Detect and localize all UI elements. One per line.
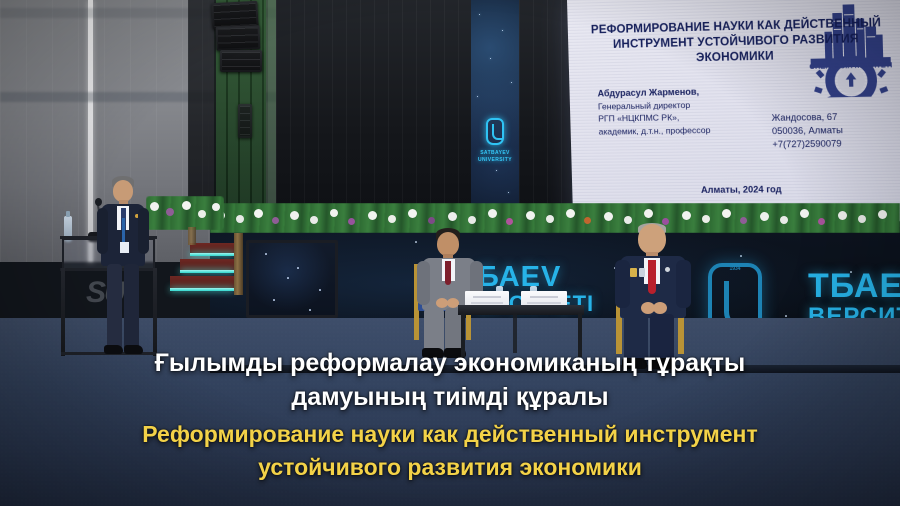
slide-place-year: Алматы, 2024 год	[572, 183, 900, 196]
arm-left	[417, 261, 430, 305]
lapel-pin	[665, 267, 670, 272]
satbayev-university-logo-icon	[486, 118, 504, 145]
led-pillar-display: SATBAYEV UNIVERSITY	[471, 0, 519, 216]
slide-body: ӨНЕРКӘСІП КОМИТЕТІ РЕФОРМИРОВАНИЕ НАУКИ …	[567, 0, 900, 223]
slide-author-block: Абдурасул Жарменов, Генеральный директор…	[597, 84, 777, 138]
subtitle-russian-line1: Реформирование науки как действенный инс…	[0, 418, 900, 451]
stage-flower-bed	[210, 203, 900, 233]
step-railing	[234, 233, 243, 295]
head	[638, 224, 666, 254]
leg-right	[124, 264, 139, 348]
hand-right	[653, 302, 667, 314]
arm-left	[97, 208, 108, 254]
slide-contact-phone: +7(727)2590079	[772, 136, 900, 151]
subtitle-russian-line2: устойчивого развития экономики	[0, 451, 900, 484]
tie	[445, 261, 451, 285]
dark-wall-panel	[519, 0, 571, 218]
arm-left	[615, 260, 630, 308]
starfield	[471, 0, 519, 216]
step-led-strip	[190, 253, 234, 256]
head	[113, 180, 133, 202]
line-array-speaker	[216, 25, 261, 51]
arm-right	[676, 260, 691, 308]
leg-left	[107, 264, 122, 348]
speaker-at-lectern	[95, 176, 149, 361]
subtitle-kazakh-line2: дамуының тиімді құралы	[0, 380, 900, 414]
dark-wall-panel	[188, 0, 216, 214]
medal	[639, 268, 645, 277]
speaker-column	[238, 104, 252, 138]
tie	[648, 260, 656, 294]
head	[437, 232, 459, 256]
slide-title: РЕФОРМИРОВАНИЕ НАУКИ КАК ДЕЙСТВЕННЫЙ ИНС…	[582, 16, 892, 69]
backdrop-text-left-top: БАЕV	[478, 261, 561, 294]
foreground-led-screen	[246, 240, 338, 318]
panel-table	[458, 305, 584, 315]
arm-right	[138, 208, 149, 254]
step-led-strip	[180, 270, 234, 273]
presentation-screen: минерального сырья	[567, 0, 900, 223]
led-pillar-wordmark: SATBAYEV UNIVERSITY	[478, 150, 512, 164]
step-railing	[188, 227, 196, 245]
slide-author-degrees: академик, д.т.н., профессор	[598, 122, 777, 137]
backdrop-text-right-top: ТБАЕВ	[808, 267, 900, 306]
subtitle-kazakh: Ғылымды реформалау экономиканың тұрақты …	[0, 346, 900, 414]
slide-contact-block: Жандосова, 67 050036, Алматы +7(727)2590…	[771, 110, 900, 152]
lanyard	[122, 218, 125, 244]
led-pillar-line1: SATBAYEV	[480, 150, 510, 156]
led-pillar-line2: UNIVERSITY	[478, 157, 512, 163]
subtitle-kazakh-line1: Ғылымды реформалау экономиканың тұрақты	[0, 346, 900, 380]
lectern-leg	[61, 268, 65, 356]
badge	[120, 242, 129, 253]
dark-wall-panel	[276, 0, 472, 216]
lectern-leg	[153, 268, 157, 356]
subtitle-russian: Реформирование науки как действенный инс…	[0, 418, 900, 484]
screenshot-root: SATBAYEV UNIVERSITY минерального сырья	[0, 0, 900, 506]
medal	[630, 268, 637, 277]
line-array-speaker	[220, 50, 262, 72]
